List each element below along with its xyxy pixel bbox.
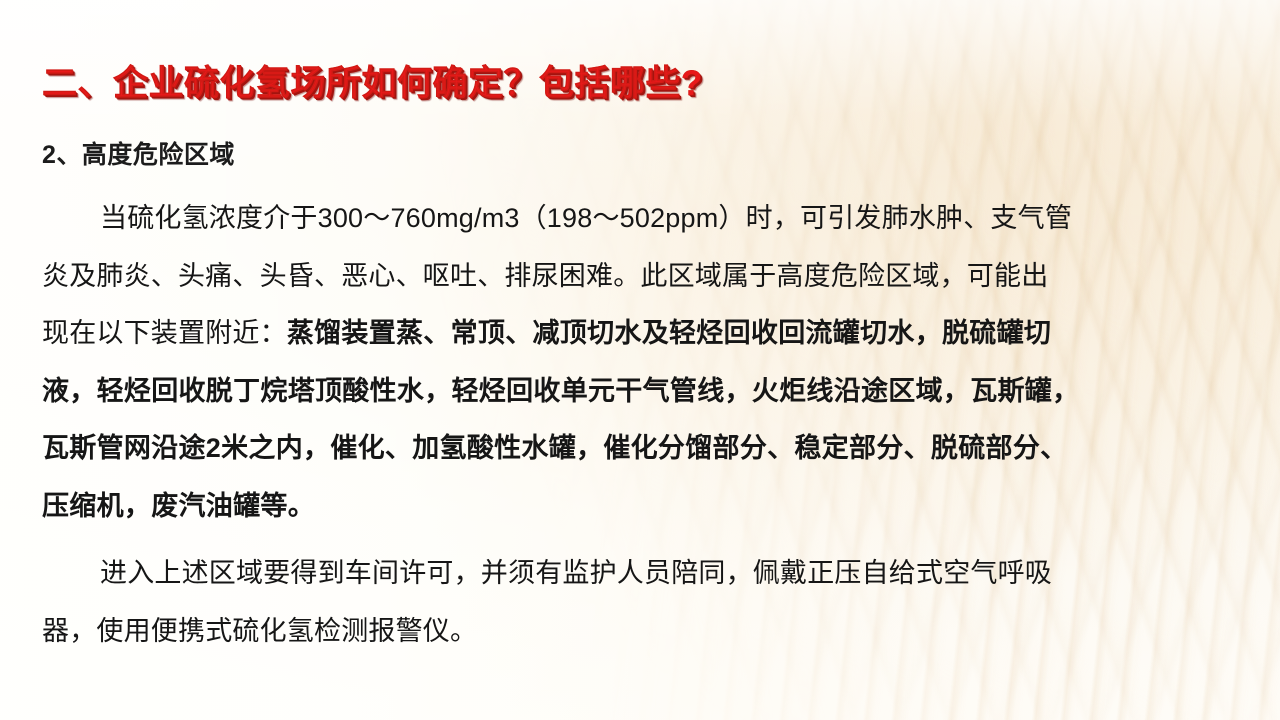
- slide-body: 当硫化氢浓度介于300～760mg/m3（198～502ppm）时，可引发肺水肿…: [42, 190, 1242, 660]
- body-paragraph1-line1: 当硫化氢浓度介于300～760mg/m3（198～502ppm）时，可引发肺水肿…: [42, 190, 1242, 248]
- body-paragraph1-line2: 炎及肺炎、头痛、头昏、恶心、呕吐、排尿困难。此区域属于高度危险区域，可能出: [42, 248, 1242, 306]
- body-paragraph2-line2: 器，使用便携式硫化氢检测报警仪。: [42, 603, 1242, 661]
- body-paragraph1-line3-normal: 现在以下装置附近：: [42, 318, 287, 348]
- body-paragraph1-line5: 瓦斯管网沿途2米之内，催化、加氢酸性水罐，催化分馏部分、稳定部分、脱硫部分、: [42, 420, 1242, 478]
- slide-title: 二、企业硫化氢场所如何确定？包括哪些?: [42, 55, 703, 106]
- body-paragraph1-line3: 现在以下装置附近：蒸馏装置蒸、常顶、减顶切水及轻烃回收回流罐切水，脱硫罐切: [42, 305, 1242, 363]
- body-paragraph1-line6: 压缩机，废汽油罐等。: [42, 478, 1242, 536]
- body-paragraph1-line3-bold: 蒸馏装置蒸、常顶、减顶切水及轻烃回收回流罐切水，脱硫罐切: [287, 318, 1051, 348]
- body-paragraph1-line4: 液，轻烃回收脱丁烷塔顶酸性水，轻烃回收单元干气管线，火炬线沿途区域，瓦斯罐，: [42, 363, 1242, 421]
- body-paragraph2-line1: 进入上述区域要得到车间许可，并须有监护人员陪同，佩戴正压自给式空气呼吸: [42, 545, 1242, 603]
- presentation-slide: 二、企业硫化氢场所如何确定？包括哪些? 2、高度危险区域 当硫化氢浓度介于300…: [0, 0, 1280, 720]
- section-subheading: 2、高度危险区域: [42, 135, 235, 171]
- paragraph-spacer: [42, 535, 1242, 545]
